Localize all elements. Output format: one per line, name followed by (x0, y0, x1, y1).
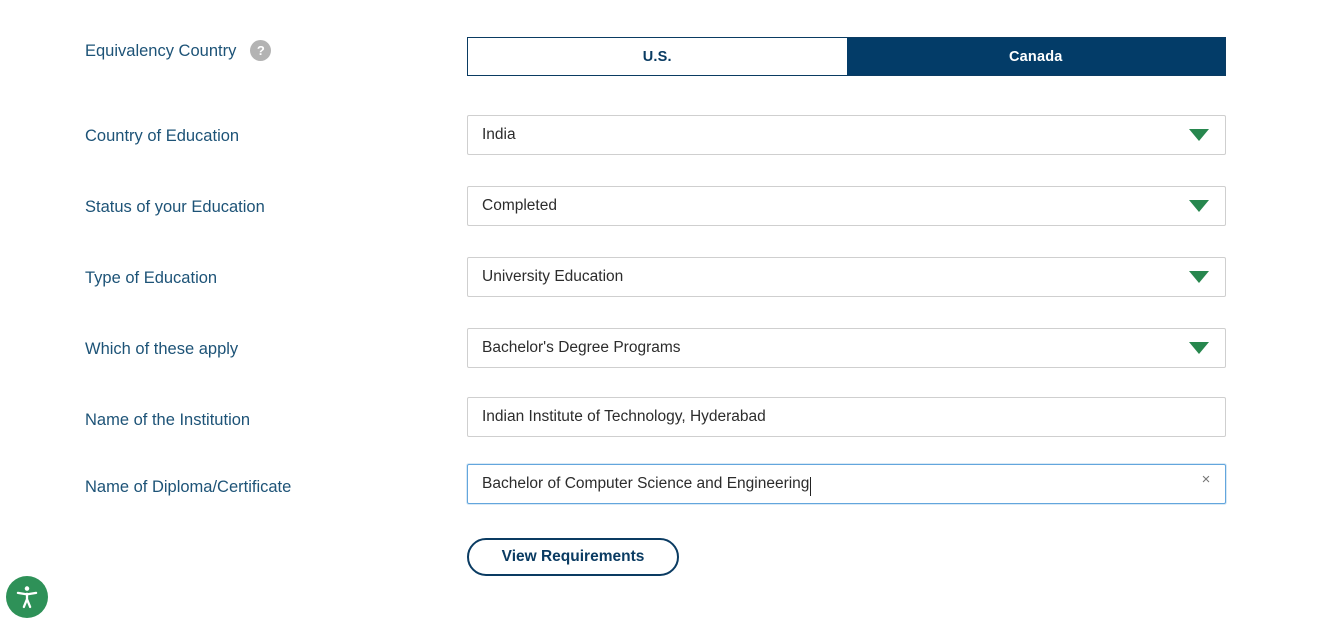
text-caret (810, 477, 811, 496)
toggle-option-canada[interactable]: Canada (847, 38, 1226, 75)
view-requirements-button[interactable]: View Requirements (467, 538, 679, 576)
chevron-down-icon[interactable] (1189, 129, 1209, 141)
select-type-of-education[interactable]: University Education (467, 257, 1226, 297)
select-status-of-education-value: Completed (482, 197, 557, 215)
select-country-of-education-value: India (482, 126, 516, 144)
accessibility-widget-button[interactable] (6, 576, 48, 618)
select-type-of-education-value: University Education (482, 268, 623, 286)
label-status-of-education: Status of your Education (85, 197, 445, 217)
input-name-of-diploma-value: Bachelor of Computer Science and Enginee… (482, 475, 809, 493)
equivalency-form: Equivalency Country ? U.S. Canada Countr… (0, 0, 1319, 637)
label-type-of-education: Type of Education (85, 268, 445, 288)
label-country-of-education: Country of Education (85, 126, 445, 146)
chevron-down-icon[interactable] (1189, 342, 1209, 354)
chevron-down-icon[interactable] (1189, 200, 1209, 212)
equivalency-country-toggle[interactable]: U.S. Canada (467, 37, 1226, 76)
select-country-of-education[interactable]: India (467, 115, 1226, 155)
select-which-of-these-apply-value: Bachelor's Degree Programs (482, 339, 681, 357)
accessibility-person-icon (14, 584, 40, 610)
toggle-option-us[interactable]: U.S. (468, 38, 847, 75)
label-equivalency-country: Equivalency Country ? (85, 40, 445, 61)
clear-input-icon[interactable]: × (1199, 473, 1213, 487)
label-which-of-these-apply: Which of these apply (85, 339, 445, 359)
label-name-of-diploma: Name of Diploma/Certificate (85, 477, 445, 497)
label-name-of-institution: Name of the Institution (85, 410, 445, 430)
input-name-of-institution-value: Indian Institute of Technology, Hyderaba… (482, 408, 766, 426)
select-which-of-these-apply[interactable]: Bachelor's Degree Programs (467, 328, 1226, 368)
select-status-of-education[interactable]: Completed (467, 186, 1226, 226)
input-name-of-institution[interactable]: Indian Institute of Technology, Hyderaba… (467, 397, 1226, 437)
label-equivalency-country-text: Equivalency Country (85, 41, 236, 61)
chevron-down-icon[interactable] (1189, 271, 1209, 283)
input-name-of-diploma[interactable]: Bachelor of Computer Science and Enginee… (467, 464, 1226, 504)
question-mark-icon[interactable]: ? (250, 40, 271, 61)
